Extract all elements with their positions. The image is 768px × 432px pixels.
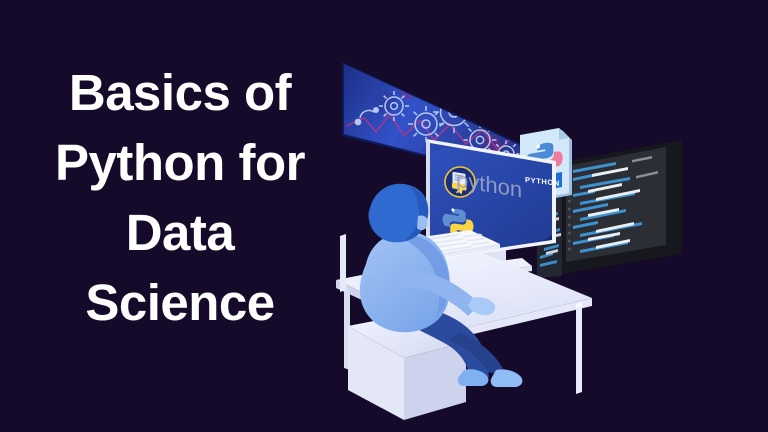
illustration-developer-at-desk: PYTHON python xyxy=(330,40,768,432)
title-line-4: Science xyxy=(8,268,352,338)
certificate-badge-icon xyxy=(445,167,475,197)
title-line-3: Data xyxy=(8,198,352,268)
thumbnail-canvas: Basics of Python for Data Science xyxy=(0,0,768,432)
page-title: Basics of Python for Data Science xyxy=(8,58,352,338)
title-line-1: Basics of xyxy=(8,58,352,128)
title-line-2: Python for xyxy=(8,128,352,198)
